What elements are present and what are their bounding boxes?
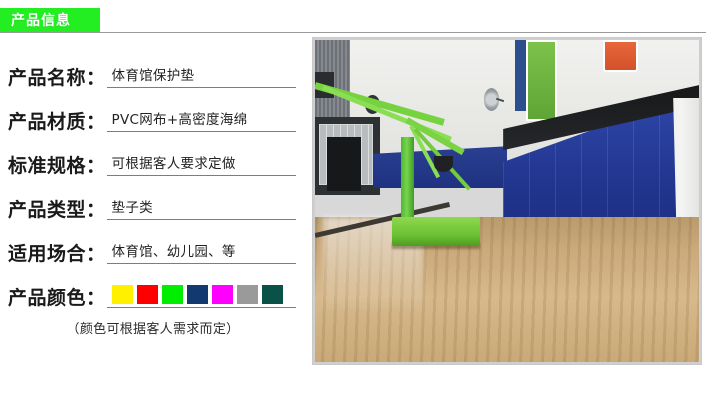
page-title: 产品信息 xyxy=(11,10,71,30)
color-swatch-yellow[interactable] xyxy=(112,285,133,304)
spec-value-underline: 体育馆、幼儿园、等 xyxy=(107,241,296,264)
spec-label: 标准规格： xyxy=(8,157,106,176)
color-swatch-strip xyxy=(107,285,283,305)
spec-row-material: 产品材质： PVC网布+高密度海绵 xyxy=(0,88,306,132)
color-swatch-navy[interactable] xyxy=(187,285,208,304)
photo-wall-banner-blue xyxy=(515,40,527,111)
spec-row-standard-size: 标准规格： 可根据客人要求定做 xyxy=(0,132,306,176)
spec-value: 体育馆、幼儿园、等 xyxy=(107,245,236,261)
photo-hoop-base xyxy=(392,217,480,246)
spec-value: 体育馆保护垫 xyxy=(107,69,195,85)
spec-row-application: 适用场合： 体育馆、幼儿园、等 xyxy=(0,220,306,264)
spec-list: 产品名称： 体育馆保护垫 产品材质： PVC网布+高密度海绵 标准规格： 可根据… xyxy=(0,44,306,334)
product-photo xyxy=(315,40,699,362)
photo-wall-banner-orange xyxy=(603,40,638,72)
spec-row-product-color: 产品颜色： xyxy=(0,264,306,308)
product-photo-frame[interactable] xyxy=(312,37,702,365)
spec-label: 产品名称： xyxy=(8,69,106,88)
spec-value-underline: PVC网布+高密度海绵 xyxy=(107,109,296,132)
color-swatch-gray[interactable] xyxy=(237,285,258,304)
color-swatch-red[interactable] xyxy=(137,285,158,304)
spec-label: 产品颜色： xyxy=(8,289,106,308)
color-swatch-magenta[interactable] xyxy=(212,285,233,304)
spec-value-underline: 垫子类 xyxy=(107,197,296,220)
spec-row-product-type: 产品类型： 垫子类 xyxy=(0,176,306,220)
photo-door-opening xyxy=(327,137,362,192)
spec-label: 产品类型： xyxy=(8,201,106,220)
spec-value: PVC网布+高密度海绵 xyxy=(107,113,248,129)
spec-label: 产品材质： xyxy=(8,113,106,132)
spec-label: 适用场合： xyxy=(8,245,106,264)
spec-value: 可根据客人要求定做 xyxy=(107,157,236,173)
spec-value: 垫子类 xyxy=(107,201,153,217)
spec-row-product-name: 产品名称： 体育馆保护垫 xyxy=(0,44,306,88)
spec-value-underline xyxy=(107,285,296,308)
spec-value-underline: 可根据客人要求定做 xyxy=(107,153,296,176)
color-note: （颜色可根据客人需求而定） xyxy=(0,318,306,337)
header-divider xyxy=(0,32,706,33)
section-header-bar: 产品信息 xyxy=(0,8,100,32)
color-swatch-green[interactable] xyxy=(162,285,183,304)
product-info-page: 产品信息 产品名称： 体育馆保护垫 产品材质： PVC网布+高密度海绵 标准规格… xyxy=(0,0,706,400)
photo-wall-banner-green xyxy=(526,40,557,121)
color-swatch-teal[interactable] xyxy=(262,285,283,304)
photo-wall-fan xyxy=(484,88,499,111)
spec-value-underline: 体育馆保护垫 xyxy=(107,65,296,88)
